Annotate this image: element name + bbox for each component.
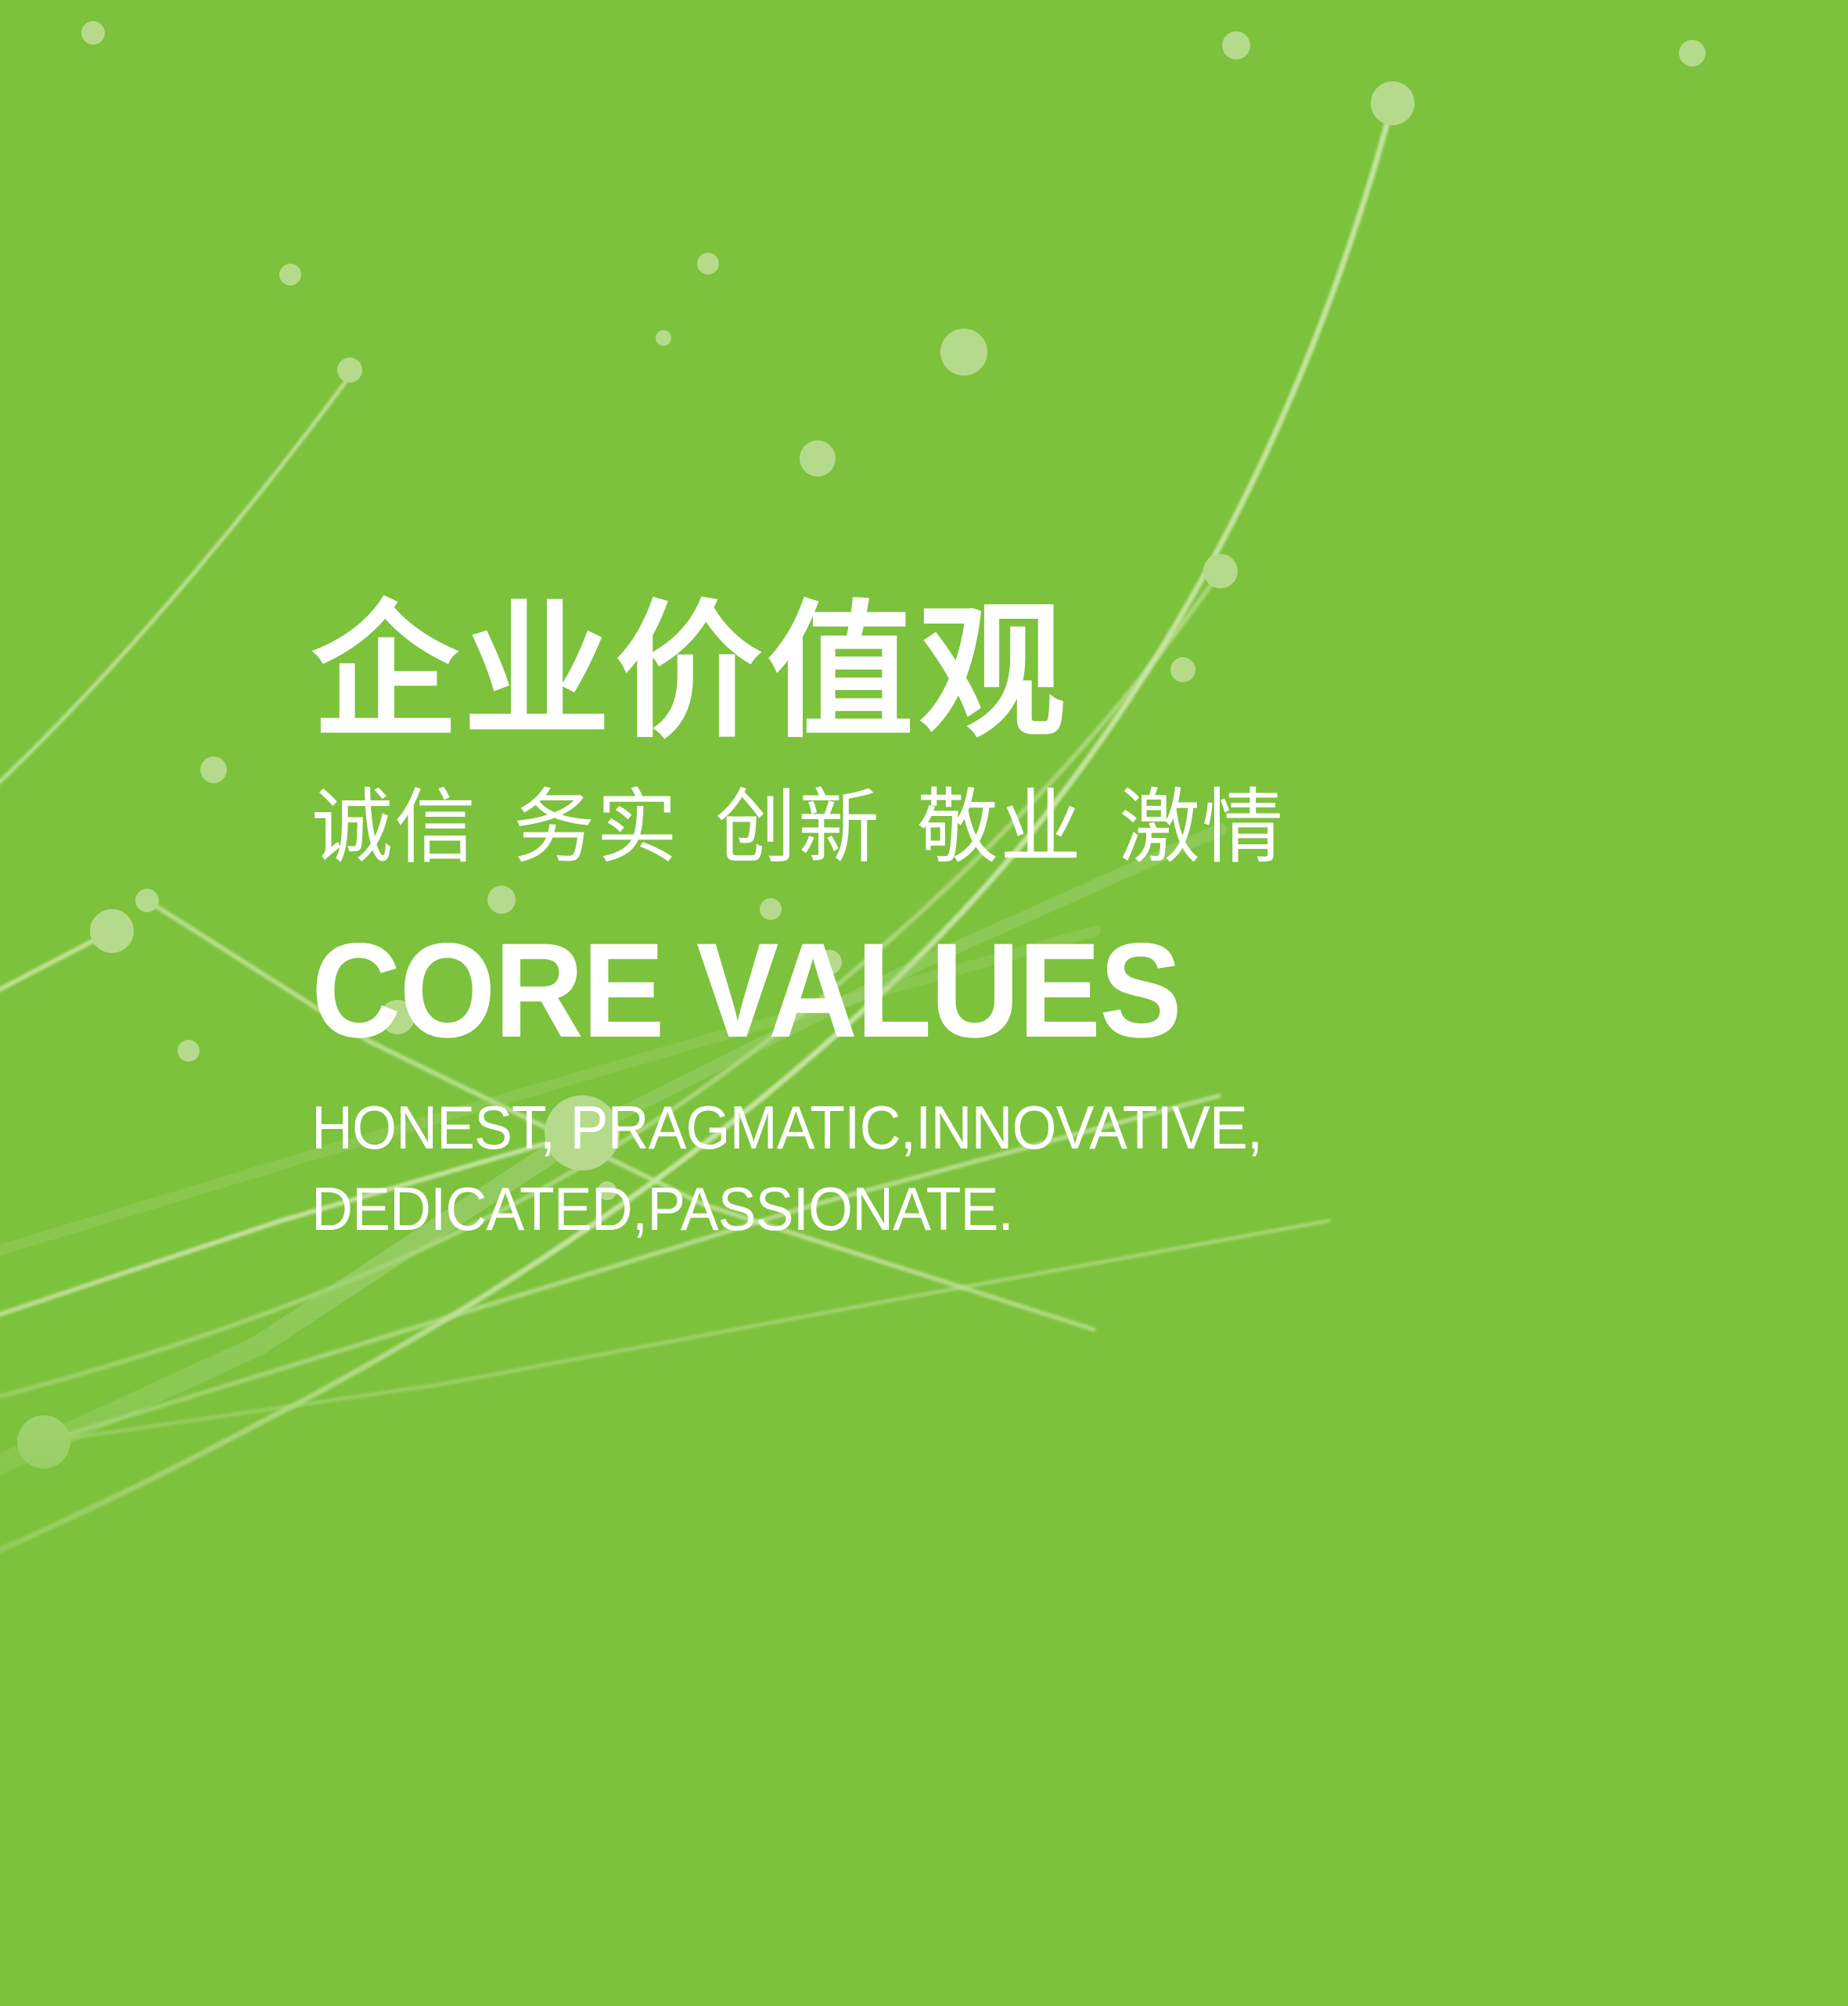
english-body-line-2: DEDICATED,PASSIONATE. <box>311 1169 1635 1250</box>
decor-dot <box>1203 554 1238 588</box>
decor-dot <box>1222 31 1250 59</box>
decor-curve-topleft <box>0 368 356 820</box>
decor-dot <box>800 440 836 476</box>
text-block: 企业价值观 诚信务实创新敬业激情 CORE VALUES HONEST, PRA… <box>311 595 1720 1250</box>
chinese-subtitle-word-2: 创新 <box>715 779 881 875</box>
decor-dot <box>940 329 987 376</box>
decor-dot <box>800 440 835 475</box>
english-title: CORE VALUES <box>311 923 1607 1058</box>
decor-dot <box>200 757 227 783</box>
core-values-poster: 企业价值观 诚信务实创新敬业激情 CORE VALUES HONEST, PRA… <box>0 0 1848 2006</box>
chinese-subtitle-word-0: 诚信 <box>311 779 477 875</box>
chinese-title: 企业价值观 <box>311 595 1720 750</box>
decor-dot <box>656 330 671 346</box>
decor-stub-topleft <box>0 931 112 1001</box>
decor-dot <box>81 21 105 45</box>
decor-dot <box>1679 40 1706 67</box>
decor-dot <box>135 889 159 912</box>
decor-dot <box>1371 81 1415 125</box>
decor-dot <box>697 253 719 275</box>
decor-dot <box>90 909 134 953</box>
english-body-line-1: HONEST, PRAGMATIC,INNOVATIVE, <box>311 1087 1635 1169</box>
chinese-subtitle-word-4: 激情 <box>1119 779 1285 875</box>
decor-dot <box>17 1415 70 1469</box>
chinese-subtitle-word-1: 务实 <box>513 779 679 875</box>
chinese-subtitle-word-3: 敬业 <box>917 779 1083 875</box>
decor-dot <box>337 358 362 383</box>
decor-dot <box>178 1040 200 1062</box>
english-body: HONEST, PRAGMATIC,INNOVATIVE, DEDICATED,… <box>311 1087 1635 1249</box>
chinese-subtitle: 诚信务实创新敬业激情 <box>311 778 1720 876</box>
decor-dot <box>279 264 301 286</box>
